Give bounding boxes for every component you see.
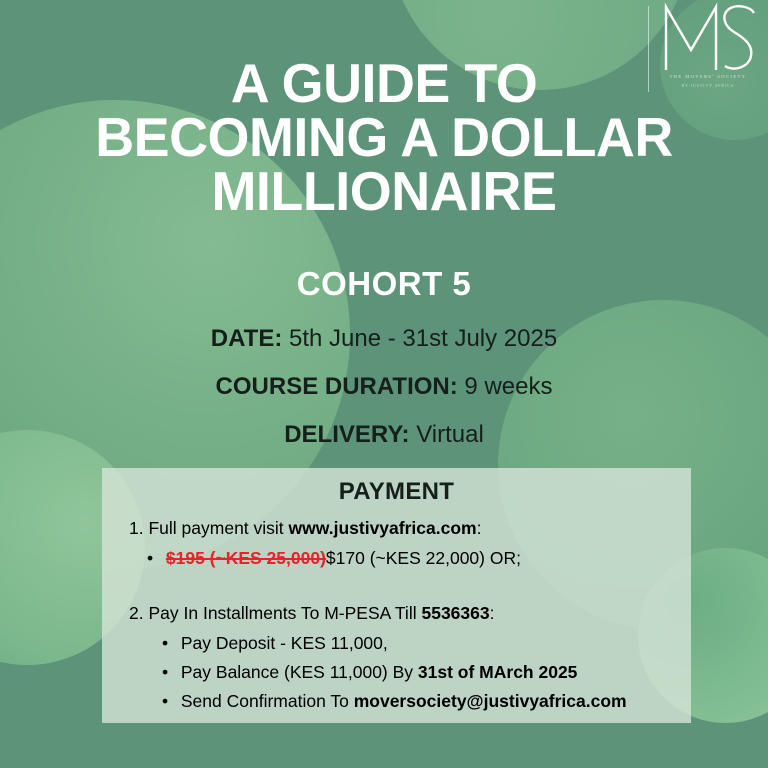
cohort-subtitle: COHORT 5 xyxy=(0,265,768,303)
detail-value-duration: 9 weeks xyxy=(464,373,552,400)
confirmation-text: Send Confirmation To xyxy=(181,691,354,711)
payment-item-2-bullet-3: • Send Confirmation To moversociety@just… xyxy=(162,691,627,712)
detail-row-duration: COURSE DURATION: 9 weeks xyxy=(0,373,768,401)
balance-text: Pay Balance (KES 11,000) By xyxy=(181,662,418,682)
balance-due-date: 31st of MArch 2025 xyxy=(418,662,578,682)
detail-value-date: 5th June - 31st July 2025 xyxy=(289,325,557,352)
bullet-dot-icon: • xyxy=(162,662,176,683)
old-price-struck: $195 (~KES 25,000) xyxy=(166,548,326,568)
payment-item-1-bullet: • $195 (~KES 25,000)$170 (~KES 22,000) O… xyxy=(147,548,521,569)
logo-divider-line xyxy=(648,6,649,92)
payment-panel: PAYMENT 1. Full payment visit www.justiv… xyxy=(102,468,691,723)
payment-item-2-number: 2. xyxy=(129,603,144,623)
payment-item-2-text: Pay In Installments To M-PESA Till xyxy=(148,603,416,623)
detail-row-delivery: DELIVERY: Virtual xyxy=(0,421,768,449)
headline-line-2: BECOMING A DOLLAR xyxy=(8,110,761,164)
detail-label-delivery: DELIVERY: xyxy=(284,421,409,448)
payment-item-2-bullet-1: • Pay Deposit - KES 11,000, xyxy=(162,633,388,654)
detail-label-date: DATE: xyxy=(211,325,283,352)
payment-website-link[interactable]: www.justivyafrica.com xyxy=(289,518,477,538)
deposit-text: Pay Deposit - KES 11,000, xyxy=(181,633,388,653)
poster-canvas: THE MOVERS' SOCIETY BY JUSTIVY AFRICA A … xyxy=(0,0,768,768)
payment-item-1: 1. Full payment visit www.justivyafrica.… xyxy=(129,518,481,539)
payment-item-1-text: Full payment visit xyxy=(148,518,283,538)
bullet-dot-icon: • xyxy=(162,633,176,654)
confirmation-email[interactable]: moversociety@justivyafrica.com xyxy=(354,691,627,711)
payment-item-2-bullet-2: • Pay Balance (KES 11,000) By 31st of MA… xyxy=(162,662,577,683)
payment-item-1-colon: : xyxy=(477,518,482,538)
detail-value-delivery: Virtual xyxy=(416,421,484,448)
payment-item-2: 2. Pay In Installments To M-PESA Till 55… xyxy=(129,603,495,624)
brand-logo: THE MOVERS' SOCIETY BY JUSTIVY AFRICA xyxy=(648,0,758,105)
new-price: $170 (~KES 22,000) OR; xyxy=(326,548,521,568)
bullet-dot-icon: • xyxy=(147,548,161,569)
logo-monogram-ms-icon xyxy=(658,2,758,74)
detail-label-duration: COURSE DURATION: xyxy=(216,373,458,400)
headline-line-3: MILLIONAIRE xyxy=(8,164,761,218)
payment-item-1-number: 1. xyxy=(129,518,144,538)
logo-tagline-primary: THE MOVERS' SOCIETY xyxy=(660,74,756,79)
detail-row-date: DATE: 5th June - 31st July 2025 xyxy=(0,325,768,353)
logo-tagline-secondary: BY JUSTIVY AFRICA xyxy=(660,84,756,88)
payment-heading: PAYMENT xyxy=(102,478,691,506)
bullet-dot-icon: • xyxy=(162,691,176,712)
mpesa-till-number: 5536363 xyxy=(421,603,489,623)
payment-item-2-colon: : xyxy=(490,603,495,623)
